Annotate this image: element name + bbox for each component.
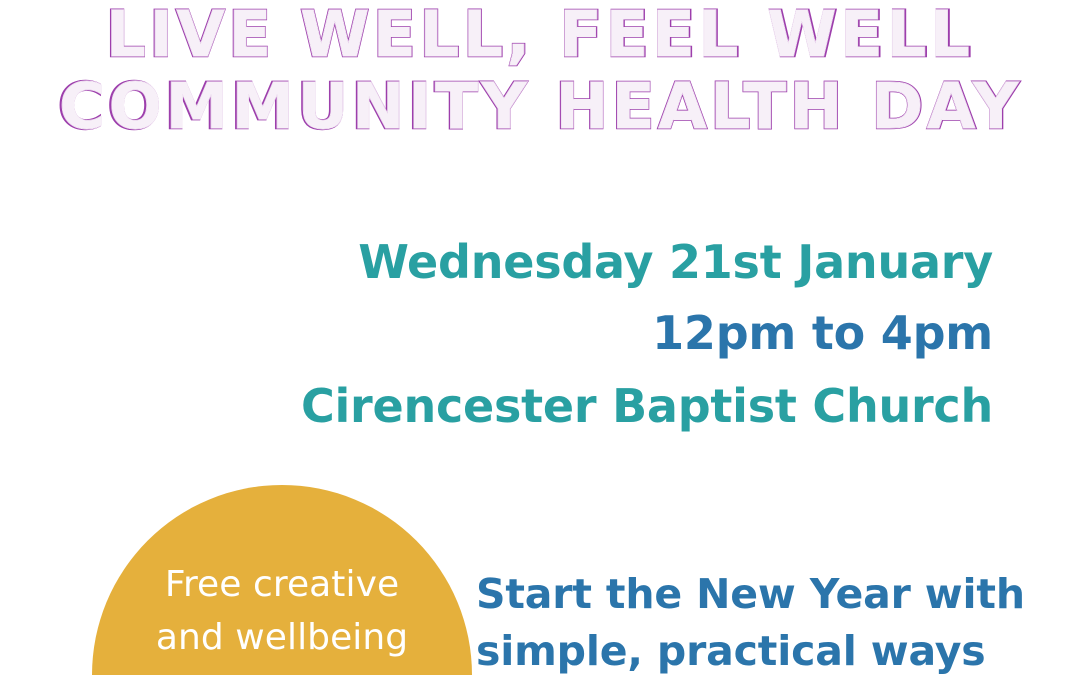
badge-line-1: Free creative — [165, 564, 399, 605]
headline-line-1: Live Well, Feel Well Live Well, Feel Wel… — [0, 4, 1080, 66]
poster-body-copy: Start the New Year with simple, practica… — [476, 566, 1046, 675]
poster-canvas: Live Well, Feel Well Live Well, Feel Wel… — [0, 0, 1080, 675]
free-activities-badge: Free creative and wellbeing — [92, 485, 472, 675]
badge-line-2: and wellbeing — [156, 617, 408, 658]
body-copy-line-1: Start the New Year with — [476, 566, 1046, 623]
event-date: Wednesday 21st January — [301, 232, 993, 293]
badge-text: Free creative and wellbeing — [92, 559, 472, 664]
event-venue: Cirencester Baptist Church — [301, 376, 993, 437]
headline-line-1-inline: Live Well, Feel Well — [106, 4, 974, 66]
poster-headline: Live Well, Feel Well Live Well, Feel Wel… — [0, 4, 1080, 137]
event-details: Wednesday 21st January 12pm to 4pm Ciren… — [301, 232, 993, 438]
headline-line-2: Community Health Day Community Health Da… — [0, 76, 1080, 138]
headline-line-2-inline: Community Health Day — [59, 76, 1022, 138]
headline-line-2-text: Community Health Day — [58, 70, 1023, 143]
body-copy-line-2: simple, practical ways — [476, 623, 1046, 675]
headline-line-1-text: Live Well, Feel Well — [105, 0, 974, 71]
event-time: 12pm to 4pm — [301, 303, 993, 364]
